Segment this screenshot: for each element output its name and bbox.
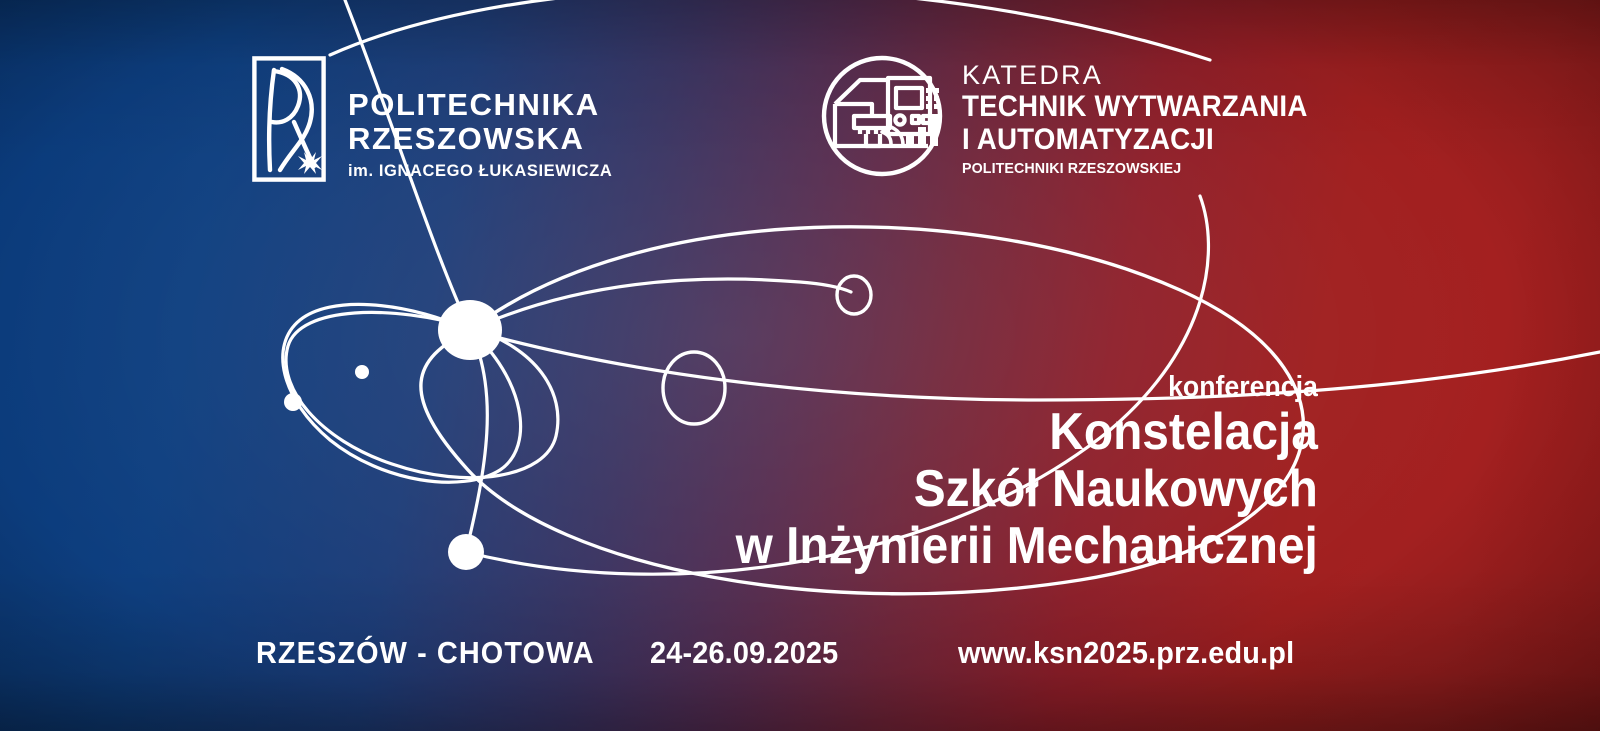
prz-patron-line: im. IGNACEGO ŁUKASIEWICZA bbox=[348, 160, 612, 182]
ktwa-line-politechniki: POLITECHNIKI RZESZOWSKIEJ bbox=[962, 159, 1311, 179]
footer-url[interactable]: www.ksn2025.prz.edu.pl bbox=[958, 631, 1294, 675]
footer-location: RZESZÓW - CHOTOWA bbox=[256, 631, 595, 675]
logo-politechnika-rzeszowska: POLITECHNIKA RZESZOWSKA im. IGNACEGO ŁUK… bbox=[252, 56, 612, 182]
footer-date: 24-26.09.2025 bbox=[650, 631, 838, 675]
orbital-constellation-graphic bbox=[0, 0, 1600, 731]
node-planet-inner bbox=[355, 365, 369, 379]
node-central-star bbox=[438, 300, 502, 360]
cnc-machine-circle-icon bbox=[820, 54, 944, 178]
ktwa-line-technik: TECHNIK WYTWARZANIA bbox=[962, 90, 1308, 123]
conference-title-block: konferencja Konstelacja Szkół Naukowych … bbox=[685, 370, 1318, 575]
conference-banner: POLITECHNIKA RZESZOWSKA im. IGNACEGO ŁUK… bbox=[0, 0, 1600, 731]
conference-title-line3: w Inżynierii Mechanicznej bbox=[736, 518, 1318, 575]
banner-footer: RZESZÓW - CHOTOWA 24-26.09.2025 www.ksn2… bbox=[256, 631, 1340, 675]
prz-name-line1: POLITECHNIKA bbox=[348, 88, 612, 122]
conference-title-line2: Szkół Naukowych bbox=[736, 461, 1318, 518]
prz-text-block: POLITECHNIKA RZESZOWSKA im. IGNACEGO ŁUK… bbox=[348, 56, 612, 182]
prz-name-line2: RZESZOWSKA bbox=[348, 122, 612, 156]
logo-katedra-twa: KATEDRA TECHNIK WYTWARZANIA I AUTOMATYZA… bbox=[820, 54, 1330, 179]
prz-monogram-emblem bbox=[252, 56, 326, 182]
conference-kicker: konferencja bbox=[736, 370, 1318, 404]
ktwa-line-automatyzacji: I AUTOMATYZACJI bbox=[962, 123, 1308, 156]
conference-title-line1: Konstelacja bbox=[736, 404, 1318, 461]
node-planet-bottom bbox=[448, 534, 484, 570]
node-planet-left bbox=[284, 393, 302, 411]
ktwa-text-block: KATEDRA TECHNIK WYTWARZANIA I AUTOMATYZA… bbox=[962, 54, 1330, 179]
ktwa-line-katedra: KATEDRA bbox=[962, 60, 1330, 90]
